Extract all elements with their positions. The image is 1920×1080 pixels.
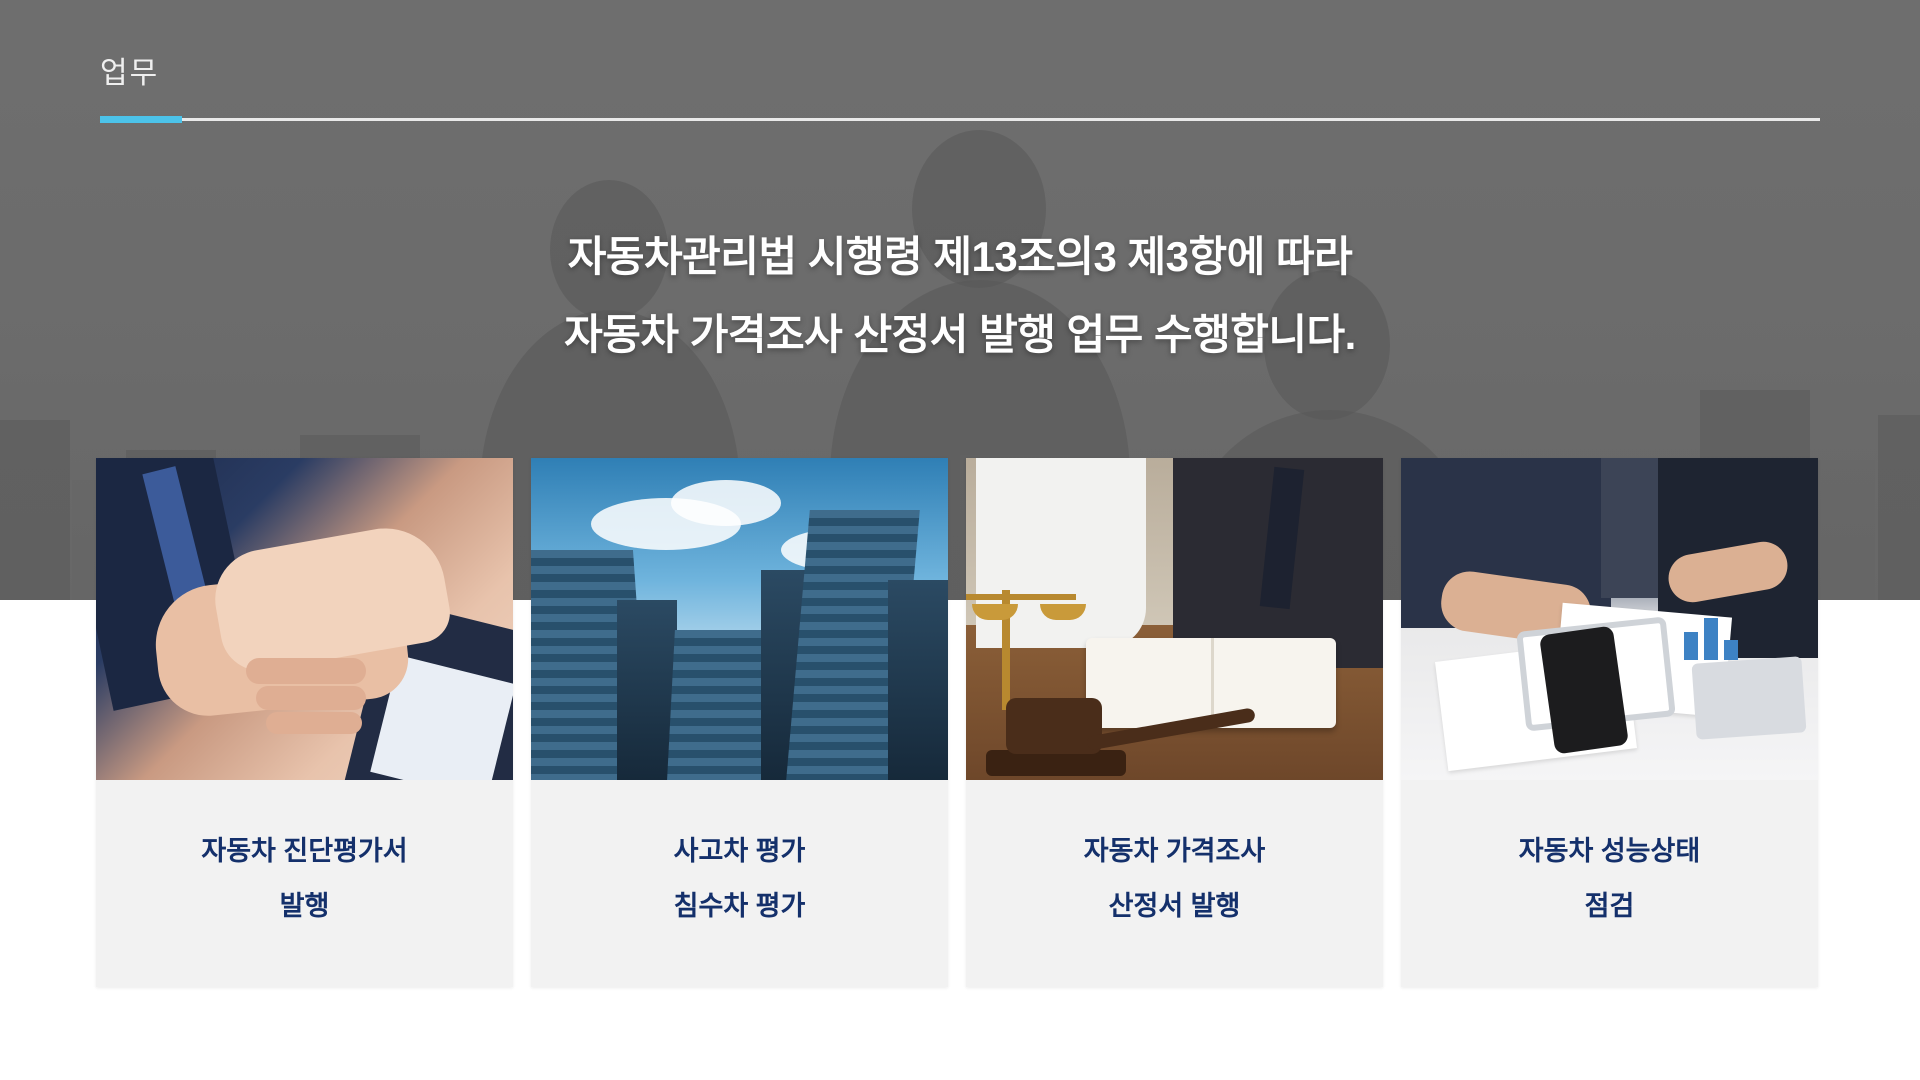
business-meeting-desk-photo [1401,458,1818,780]
service-card-1[interactable]: 자동차 진단평가서 발행 [96,458,513,987]
section-divider-accent [100,116,182,123]
service-card-list: 자동차 진단평가서 발행 사고차 평가 침수차 평가 [96,458,1824,987]
service-card-1-caption-line-1: 자동차 진단평가서 [106,824,503,879]
skyscrapers-photo [531,458,948,780]
service-card-3-caption-line-2: 산정서 발행 [976,879,1373,934]
service-card-3[interactable]: 자동차 가격조사 산정서 발행 [966,458,1383,987]
service-card-2-caption: 사고차 평가 침수차 평가 [531,780,948,987]
service-card-4-caption-line-1: 자동차 성능상태 [1411,824,1808,879]
service-card-4[interactable]: 자동차 성능상태 점검 [1401,458,1818,987]
service-card-2-caption-line-1: 사고차 평가 [541,824,938,879]
handshake-photo [96,458,513,780]
service-card-1-caption: 자동차 진단평가서 발행 [96,780,513,987]
section-label: 업무 [100,48,159,92]
slide-page: 업무 자동차관리법 시행령 제13조의3 제3항에 따라 자동차 가격조사 산정… [0,0,1920,1080]
service-card-2-caption-line-2: 침수차 평가 [541,879,938,934]
service-card-4-caption-line-2: 점검 [1411,879,1808,934]
gavel-contract-photo [966,458,1383,780]
headline-line-2: 자동차 가격조사 산정서 발행 업무 수행합니다. [0,296,1920,374]
section-divider [100,118,1820,121]
service-card-4-caption: 자동차 성능상태 점검 [1401,780,1818,987]
service-card-3-caption: 자동차 가격조사 산정서 발행 [966,780,1383,987]
headline-line-1: 자동차관리법 시행령 제13조의3 제3항에 따라 [0,218,1920,296]
service-card-2[interactable]: 사고차 평가 침수차 평가 [531,458,948,987]
service-card-1-caption-line-2: 발행 [106,879,503,934]
service-card-3-caption-line-1: 자동차 가격조사 [976,824,1373,879]
headline: 자동차관리법 시행령 제13조의3 제3항에 따라 자동차 가격조사 산정서 발… [0,218,1920,373]
